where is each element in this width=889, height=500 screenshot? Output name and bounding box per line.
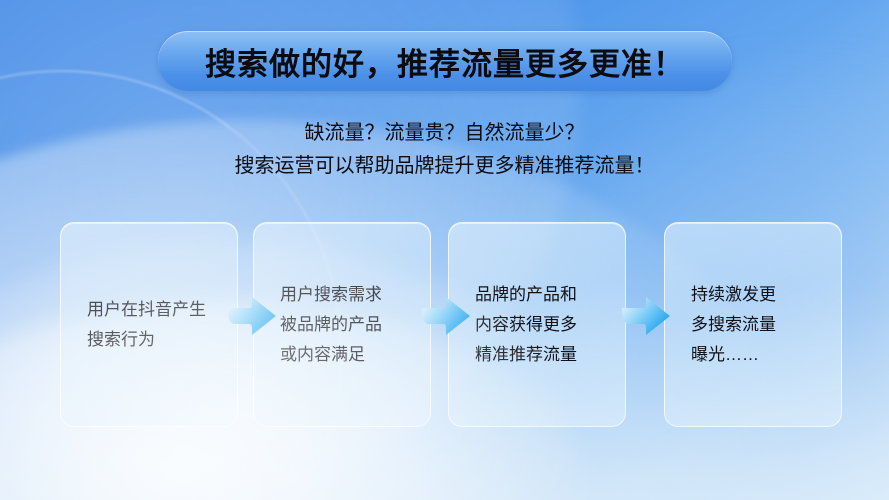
- step-card-2: 用户搜索需求 被品牌的产品 或内容满足: [253, 222, 431, 427]
- step-card-3: 品牌的产品和 内容获得更多 精准推荐流量: [448, 222, 626, 427]
- page-title: 搜索做的好，推荐流量更多更准！: [205, 39, 685, 84]
- slide-canvas: 搜索做的好，推荐流量更多更准！ 缺流量？流量贵？自然流量少？ 搜索运营可以帮助品…: [0, 0, 889, 500]
- step-card-4: 持续激发更 多搜索流量 曝光……: [664, 222, 842, 427]
- subtitle-line-1: 缺流量？流量贵？自然流量少？: [0, 117, 889, 150]
- subtitle-block: 缺流量？流量贵？自然流量少？ 搜索运营可以帮助品牌提升更多精准推荐流量！: [0, 117, 889, 183]
- subtitle-line-2: 搜索运营可以帮助品牌提升更多精准推荐流量！: [0, 150, 889, 183]
- step-card-4-text: 持续激发更 多搜索流量 曝光……: [665, 280, 776, 370]
- title-pill: 搜索做的好，推荐流量更多更准！: [158, 31, 732, 91]
- arrow-right-icon: [226, 292, 278, 340]
- arrow-right-icon: [420, 292, 472, 340]
- step-card-1-text: 用户在抖音产生 搜索行为: [61, 295, 206, 355]
- step-card-1: 用户在抖音产生 搜索行为: [60, 222, 238, 427]
- arrow-right-icon: [620, 292, 672, 340]
